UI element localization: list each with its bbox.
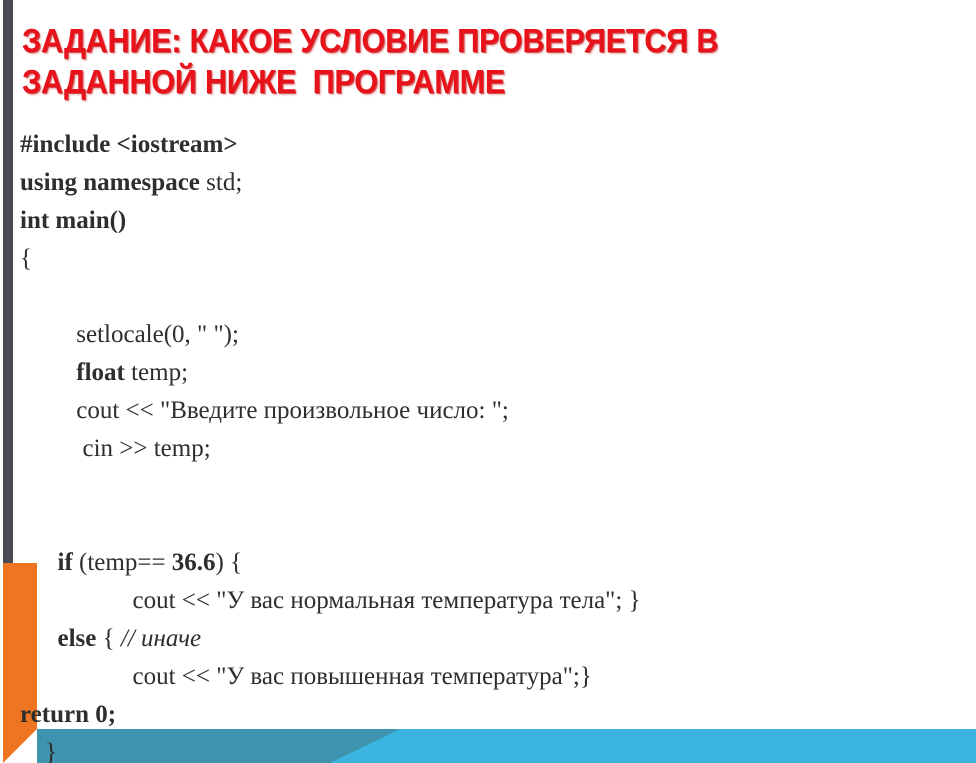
code-line: cin >> temp; xyxy=(20,430,970,468)
code-listing: #include <iostream>using namespace std;i… xyxy=(20,126,970,763)
code-token: std; xyxy=(206,169,242,196)
code-token: cin >> temp; xyxy=(76,435,210,462)
code-token: } xyxy=(39,739,57,763)
code-token: cout << "У вас повышенная температура";} xyxy=(133,663,592,690)
code-line: using namespace std; xyxy=(20,164,970,202)
code-line: cout << "У вас повышенная температура";} xyxy=(20,658,970,696)
code-line: float temp; xyxy=(20,354,970,392)
code-token: setlocale(0, " "); xyxy=(76,321,239,348)
code-line: return 0; xyxy=(20,696,970,734)
code-token: using namespace xyxy=(20,169,206,196)
code-line: #include <iostream> xyxy=(20,126,970,164)
code-token: int main() xyxy=(20,207,126,234)
code-token: if xyxy=(58,549,80,576)
code-token: else xyxy=(58,625,103,652)
code-line: else { // иначе xyxy=(20,620,970,658)
code-token: (temp== xyxy=(79,549,172,576)
code-line: } xyxy=(20,734,970,763)
slide-canvas: ЗАДАНИЕ: КАКОЕ УСЛОВИЕ ПРОВЕРЯЕТСЯ В ЗАД… xyxy=(0,0,976,763)
code-token: { xyxy=(20,245,32,272)
code-token: 36.6 xyxy=(172,549,216,576)
code-line: setlocale(0, " "); xyxy=(20,316,970,354)
code-line: { xyxy=(20,240,970,278)
code-line: cout << "Введите произвольное число: "; xyxy=(20,392,970,430)
code-line xyxy=(20,506,970,544)
slide-title: ЗАДАНИЕ: КАКОЕ УСЛОВИЕ ПРОВЕРЯЕТСЯ В ЗАД… xyxy=(22,20,859,102)
code-line xyxy=(20,468,970,506)
code-token: temp; xyxy=(131,359,188,386)
code-token: cout << "Введите произвольное число: "; xyxy=(76,397,509,424)
code-line: int main() xyxy=(20,202,970,240)
code-token: // иначе xyxy=(121,625,201,652)
code-line xyxy=(20,278,970,316)
code-token: ) { xyxy=(216,549,243,576)
code-line: if (temp== 36.6) { xyxy=(20,544,970,582)
code-token: <iostream> xyxy=(117,131,238,158)
code-token: cout << "У вас нормальная температура те… xyxy=(133,587,641,614)
code-token: float xyxy=(76,359,131,386)
code-token: { xyxy=(103,625,121,652)
code-line: cout << "У вас нормальная температура те… xyxy=(20,582,970,620)
code-token: return 0; xyxy=(20,701,116,728)
code-token: #include xyxy=(20,131,117,158)
left-gray-rail-decoration xyxy=(3,0,13,565)
